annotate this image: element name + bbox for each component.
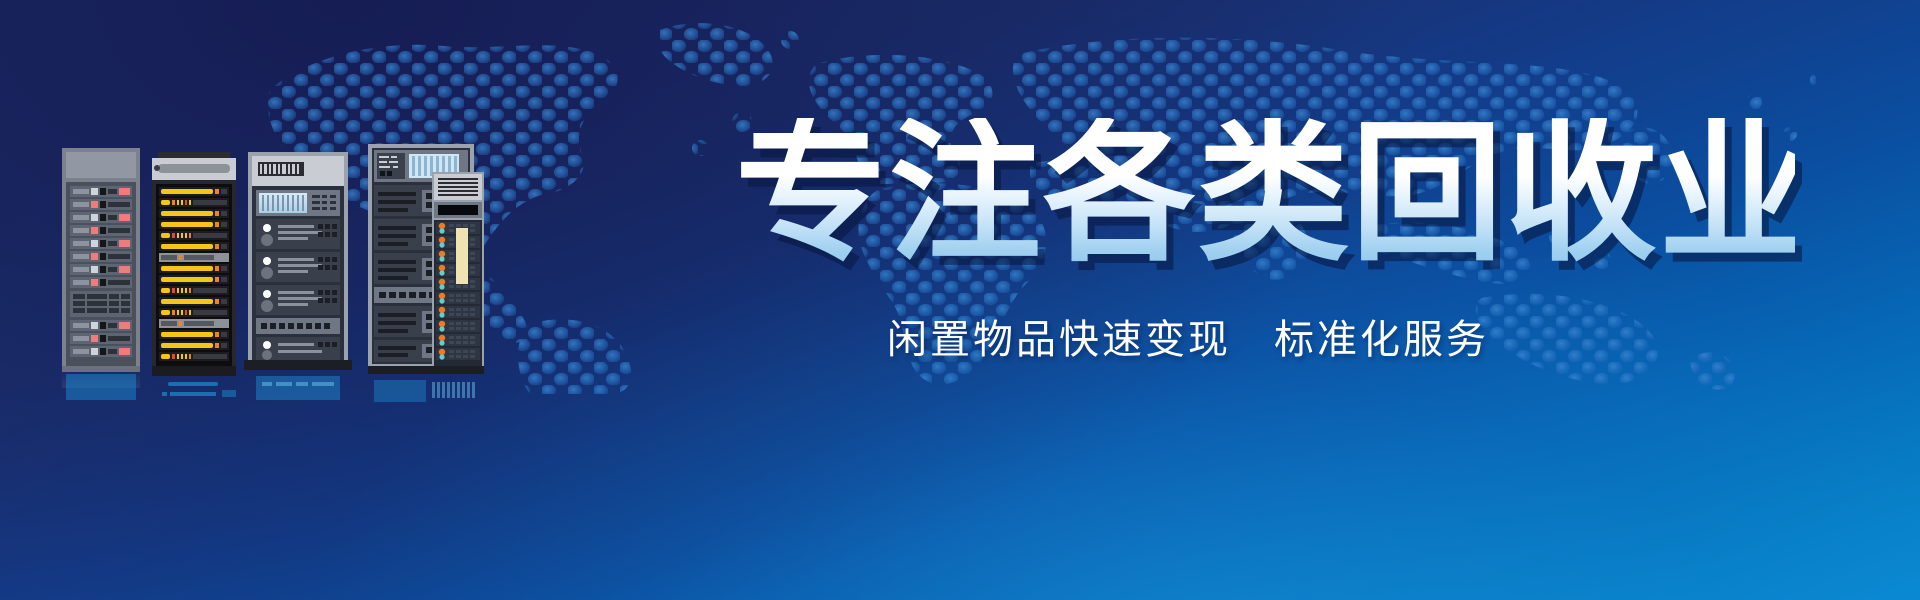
banner-headline: 专注各类回收业务 — [735, 118, 1795, 270]
banner-text-block: 专注各类回收业务 闲置物品快速变现 标准化服务 — [735, 118, 1795, 364]
banner-subtitle: 闲置物品快速变现 标准化服务 — [887, 316, 1795, 364]
rack-1-gray — [62, 148, 140, 400]
rack-3-silver-led — [244, 152, 352, 400]
rack-4-dual-led — [368, 144, 484, 402]
promo-banner: 专注各类回收业务 闲置物品快速变现 标准化服务 — [0, 0, 1920, 600]
server-rack-illustration — [0, 0, 620, 600]
rack-2-black-gold — [152, 152, 236, 397]
